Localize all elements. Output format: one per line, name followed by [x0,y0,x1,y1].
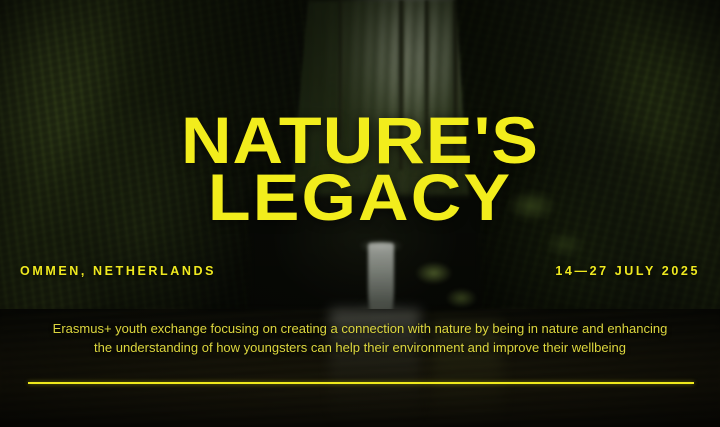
description-line-2: the understanding of how youngsters can … [12,339,708,358]
meta-row: OMMEN, NETHERLANDS 14—27 JULY 2025 [20,264,700,278]
poster-title: NATURE'S LEGACY [0,112,720,226]
title-line-2: LEGACY [0,169,720,226]
location-text: OMMEN, NETHERLANDS [20,264,216,278]
divider-rule [28,382,694,384]
poster-canvas: NATURE'S LEGACY OMMEN, NETHERLANDS 14—27… [0,0,720,427]
description-line-1: Erasmus+ youth exchange focusing on crea… [12,320,708,339]
dates-text: 14—27 JULY 2025 [555,264,700,278]
poster-content: NATURE'S LEGACY OMMEN, NETHERLANDS 14—27… [0,0,720,427]
description-text: Erasmus+ youth exchange focusing on crea… [12,320,708,358]
